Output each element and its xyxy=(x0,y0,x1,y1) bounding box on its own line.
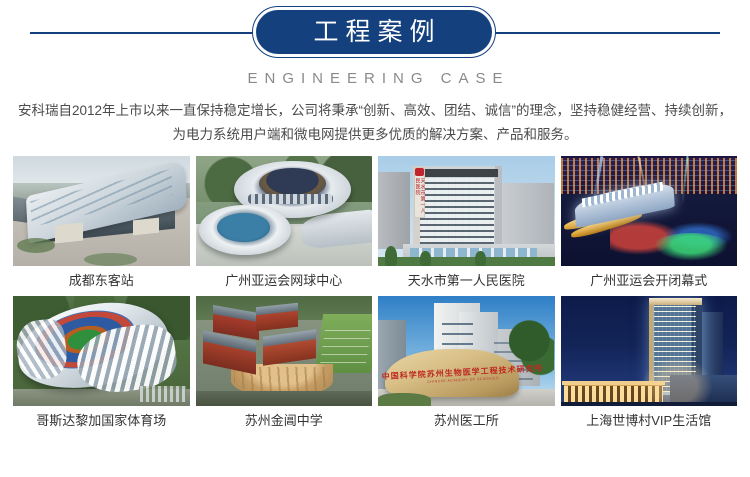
ground-layer xyxy=(561,402,738,406)
case-caption: 成都东客站 xyxy=(69,266,134,293)
case-caption: 天水市第一人民医院 xyxy=(408,266,525,293)
tower-top-band xyxy=(417,169,498,177)
shrub-layer xyxy=(378,393,431,406)
greenery-front xyxy=(84,253,137,266)
case-thumbnail-medical-institute[interactable]: 中国科学院苏州生物医学工程技术研究所 CHINESE ACADEMY OF SC… xyxy=(378,296,555,406)
case-item[interactable]: 上海世博村VIP生活馆 xyxy=(561,296,738,433)
perimeter-road-layer xyxy=(196,391,373,406)
engineering-case-page: 工程案例 ENGINEERING CASE 安科瑞自2012年上市以来一直保持稳… xyxy=(0,0,750,477)
case-caption: 广州亚运会开闭幕式 xyxy=(590,266,707,293)
case-thumbnail-tennis-center[interactable] xyxy=(196,156,373,266)
case-grid: 成都东客站 广州亚运会网球中心 xyxy=(13,156,737,433)
hospital-sign-text: 天水市第一人民医院 xyxy=(414,178,424,218)
sports-field-lines xyxy=(320,323,371,363)
case-caption: 哥斯达黎加国家体育场 xyxy=(36,406,166,433)
greenery-left xyxy=(17,238,56,253)
hospital-sign-text-wrap: 天水市第一人民医院 xyxy=(414,178,425,218)
case-item[interactable]: 中国科学院苏州生物医学工程技术研究所 CHINESE ACADEMY OF SC… xyxy=(378,296,555,433)
title-badge: 工程案例 xyxy=(252,6,498,60)
header-rule-left xyxy=(30,32,258,34)
lawn-layer xyxy=(378,257,555,266)
tower-crown-layer xyxy=(649,298,702,305)
hospital-cross-icon xyxy=(415,168,424,176)
company-description: 安科瑞自2012年上市以来一直保持稳定增长，公司将秉承“创新、高效、团结、诚信”… xyxy=(15,99,735,146)
case-item[interactable]: 哥斯达黎加国家体育场 xyxy=(13,296,190,433)
case-thumbnail-national-stadium[interactable] xyxy=(13,296,190,406)
ambient-glow-layer xyxy=(642,357,713,407)
case-caption: 苏州医工所 xyxy=(434,406,499,433)
tree-left xyxy=(385,246,397,266)
case-item[interactable]: 广州亚运会网球中心 xyxy=(196,156,373,293)
entrance-pillar-right xyxy=(133,218,159,236)
tree-right xyxy=(475,251,486,266)
page-subtitle: ENGINEERING CASE xyxy=(0,70,750,87)
case-thumbnail-railway-station[interactable] xyxy=(13,156,190,266)
case-thumbnail-hospital[interactable]: 天水市第一人民医院 xyxy=(378,156,555,266)
header-rule-right xyxy=(492,32,720,34)
entrance-pillar-left xyxy=(55,223,83,244)
left-building-layer xyxy=(378,172,410,249)
case-thumbnail-ceremony-night[interactable] xyxy=(561,156,738,266)
page-header: 工程案例 xyxy=(0,0,750,66)
monument-inscription: 中国科学院苏州生物医学工程技术研究所 CHINESE ACADEMY OF SC… xyxy=(416,360,509,393)
case-caption: 苏州金阊中学 xyxy=(245,406,323,433)
secondary-stadium-court xyxy=(217,213,270,242)
tree-middle xyxy=(420,251,431,266)
case-caption: 上海世博村VIP生活馆 xyxy=(586,406,711,433)
page-title: 工程案例 xyxy=(306,20,441,45)
case-item[interactable]: 成都东客站 xyxy=(13,156,190,293)
case-thumbnail-middle-school[interactable] xyxy=(196,296,373,406)
case-item[interactable]: 苏州金阊中学 xyxy=(196,296,373,433)
green-light-arc xyxy=(652,233,730,262)
stadium-facade-windows xyxy=(248,194,333,204)
case-item[interactable]: 天水市第一人民医院 天水市第一人民医院 xyxy=(378,156,555,293)
right-building-layer xyxy=(502,183,555,249)
parking-lot-layer xyxy=(140,386,186,401)
case-item[interactable]: 广州亚运会开闭幕式 xyxy=(561,156,738,293)
case-caption: 广州亚运会网球中心 xyxy=(225,266,342,293)
title-badge-fill: 工程案例 xyxy=(256,10,492,54)
tower-windows-layer xyxy=(420,178,494,244)
case-thumbnail-expo-village[interactable] xyxy=(561,296,738,406)
